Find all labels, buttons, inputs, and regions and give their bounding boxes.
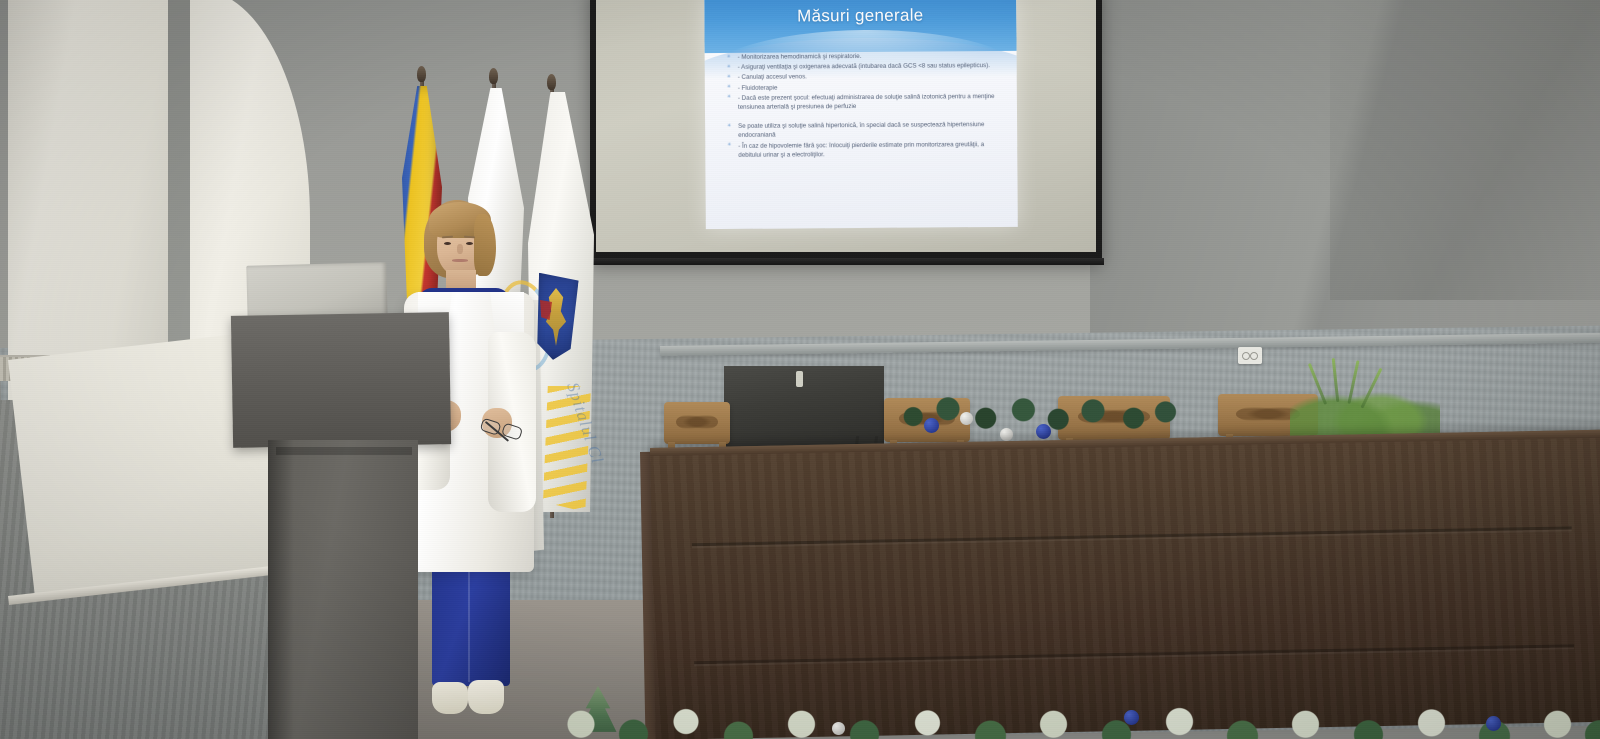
presidium-panel-groove <box>694 644 1574 664</box>
projected-slide: Măsuri generale - Monitorizarea hemodina… <box>704 0 1018 229</box>
flag-finial-white-1 <box>489 68 498 84</box>
foreground-garland <box>560 678 1600 739</box>
speaker-shoe-left <box>432 682 468 714</box>
speaker-mouth <box>452 259 468 262</box>
slide-bullet: - Canulaţi accesul venos. <box>727 71 1003 82</box>
speaker-shoe-right <box>468 680 504 714</box>
slide-bullet: - Dacă este prezent şocul: efectuaţi adm… <box>727 92 1003 112</box>
bauble-silver-icon <box>1000 428 1013 441</box>
speaker-eye <box>444 242 451 245</box>
monitor-indicator-icon <box>796 371 803 387</box>
slide-body: - Monitorizarea hemodinamică şi respirat… <box>727 51 1004 161</box>
slide-bullet: - În caz de hipovolemie fără şoc: înlocu… <box>727 140 1003 160</box>
speaker-eye <box>466 242 473 245</box>
lectern-top <box>231 312 451 448</box>
slide-bullet: - Monitorizarea hemodinamică şi respirat… <box>727 51 1003 62</box>
speaker-nose <box>457 244 463 254</box>
projection-screen-bottom-bar <box>590 258 1104 265</box>
lectern-shadow <box>268 440 294 739</box>
slide-bullet: Se poate utiliza şi soluţie salină hiper… <box>727 120 1003 140</box>
chair-back <box>664 402 730 444</box>
bauble-blue-icon <box>1486 716 1501 731</box>
speaker-scrub-pants <box>432 556 510 686</box>
wall-power-socket-icon[interactable] <box>1238 347 1262 364</box>
flag-finial-moldova <box>417 66 426 82</box>
slide-bullet: - Fluidoterapie <box>727 82 1003 93</box>
chair-carving <box>676 413 718 431</box>
slide-title: Măsuri generale <box>704 0 1016 39</box>
bauble-blue-icon <box>1036 424 1051 439</box>
presidium-panel-groove <box>692 526 1572 546</box>
bauble-blue-icon <box>924 418 939 433</box>
slide-bullet: - Asiguraţi ventilaţia şi oxigenarea ade… <box>727 61 1003 72</box>
wall-corner-shadow <box>1330 0 1600 300</box>
lectern-trim <box>276 447 412 455</box>
speaker-pants-crease <box>468 560 470 682</box>
flag-finial-white-2 <box>547 74 556 90</box>
bauble-silver-icon <box>832 722 845 735</box>
bauble-silver-icon <box>960 412 973 425</box>
bauble-blue-icon <box>1124 710 1139 725</box>
conference-hall-scene: Măsuri generale - Monitorizarea hemodina… <box>0 0 1600 739</box>
